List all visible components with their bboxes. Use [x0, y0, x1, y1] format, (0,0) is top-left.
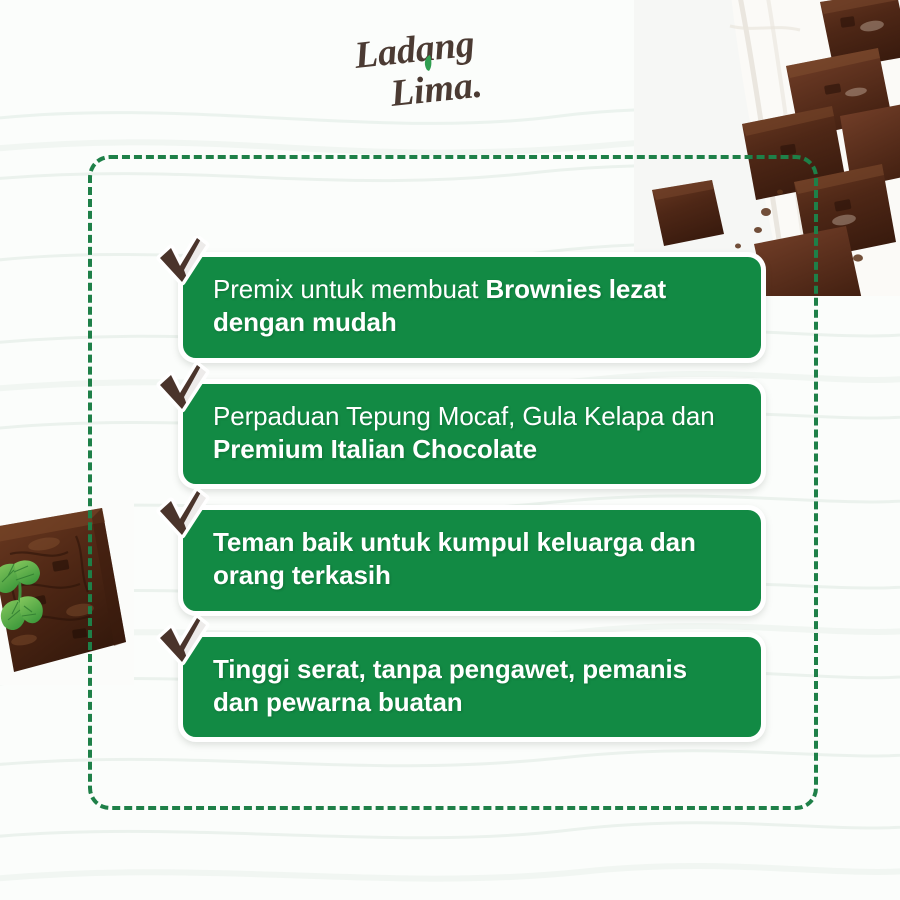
- list-item: Perpaduan Tepung Mocaf, Gula Kelapa dan …: [156, 379, 776, 490]
- feature-text-regular: Perpaduan Tepung Mocaf, Gula Kelapa dan: [213, 401, 715, 431]
- double-check-icon: [156, 363, 210, 413]
- list-item: Teman baik untuk kumpul keluarga dan ora…: [156, 505, 776, 616]
- double-check-icon: [156, 489, 210, 539]
- feature-card: Teman baik untuk kumpul keluarga dan ora…: [178, 505, 766, 616]
- feature-card: Tinggi serat, tanpa pengawet, pemanis da…: [178, 632, 766, 743]
- brand-logo: Ladang Lima.: [0, 34, 900, 112]
- double-check-icon: [156, 236, 210, 286]
- logo-wordmark-lima: Lima.: [388, 64, 485, 112]
- feature-text: Perpaduan Tepung Mocaf, Gula Kelapa dan …: [213, 400, 739, 467]
- feature-text: Premix untuk membuat Brownies lezat deng…: [213, 273, 739, 340]
- feature-text-regular: Premix untuk membuat: [213, 274, 485, 304]
- feature-text: Tinggi serat, tanpa pengawet, pemanis da…: [213, 653, 739, 720]
- feature-list: Premix untuk membuat Brownies lezat deng…: [156, 252, 776, 742]
- poster-canvas: Ladang Lima. Premix untuk membuat Browni…: [0, 0, 900, 900]
- list-item: Premix untuk membuat Brownies lezat deng…: [156, 252, 776, 363]
- logo-text-lima: Lima.: [388, 64, 485, 112]
- ladang-lima-logo-mark: Ladang Lima.: [350, 34, 550, 112]
- double-check-icon: [156, 616, 210, 666]
- list-item: Tinggi serat, tanpa pengawet, pemanis da…: [156, 632, 776, 743]
- feature-card: Perpaduan Tepung Mocaf, Gula Kelapa dan …: [178, 379, 766, 490]
- feature-text: Teman baik untuk kumpul keluarga dan ora…: [213, 526, 739, 593]
- feature-text-bold: Premium Italian Chocolate: [213, 434, 537, 464]
- feature-card: Premix untuk membuat Brownies lezat deng…: [178, 252, 766, 363]
